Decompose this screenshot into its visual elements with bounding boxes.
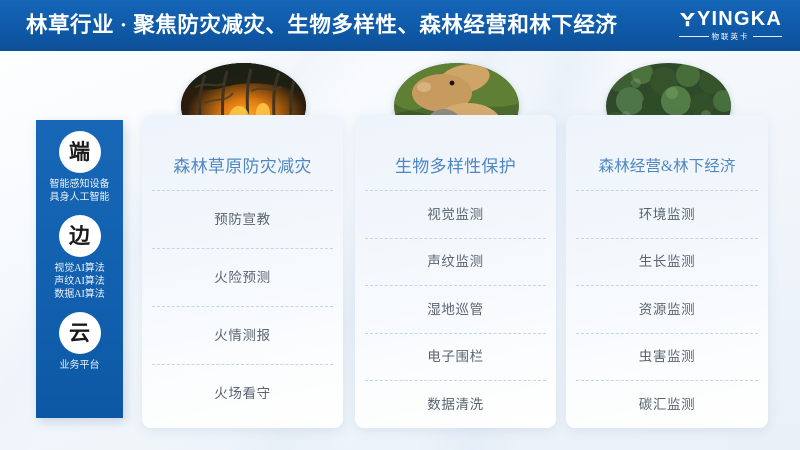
stack-node-cloud: 云 业务平台 <box>36 312 123 372</box>
stack-caption-edge: 视觉AI算法 声纹AI算法 数据AI算法 <box>54 262 105 301</box>
card-item-list: 环境监测 生长监测 资源监测 虫害监测 碳汇监测 <box>576 190 758 428</box>
yingka-y-mark-icon <box>679 11 696 28</box>
card-title: 森林经营&林下经济 <box>576 156 758 178</box>
page-title: 林草行业 · 聚焦防灾减灾、生物多样性、森林经营和林下经济 <box>26 15 617 37</box>
card-item[interactable]: 环境监测 <box>576 190 758 238</box>
logo-wordmark: YINGKA <box>679 9 782 29</box>
stack-symbol-edge: 边 <box>59 215 101 257</box>
logo-subtitle-text: 物联英卡 <box>709 31 753 42</box>
card-item[interactable]: 资源监测 <box>576 285 758 333</box>
slide-canvas: 林草行业 · 聚焦防灾减灾、生物多样性、森林经营和林下经济 YINGKA 物联英… <box>0 0 800 450</box>
stack-node-edge: 边 视觉AI算法 声纹AI算法 数据AI算法 <box>36 215 123 301</box>
stack-symbol-cloud: 云 <box>59 312 101 354</box>
card-item[interactable]: 火险预测 <box>152 248 333 306</box>
stack-caption-device: 智能感知设备 具身人工智能 <box>50 178 110 204</box>
card-forest-management[interactable]: 森林经营&林下经济 环境监测 生长监测 资源监测 虫害监测 碳汇监测 <box>566 115 768 428</box>
architecture-stack-panel: 端 智能感知设备 具身人工智能 边 视觉AI算法 声纹AI算法 数据AI算法 云… <box>36 120 123 418</box>
card-item[interactable]: 预防宣教 <box>152 190 333 248</box>
card-disaster-prevention[interactable]: 森林草原防灾减灾 预防宣教 火险预测 火情测报 火场看守 <box>142 115 343 428</box>
logo-name-text: YINGKA <box>697 9 782 29</box>
card-item[interactable]: 电子围栏 <box>365 333 546 381</box>
card-item[interactable]: 视觉监测 <box>365 190 546 238</box>
logo-subtitle-row: 物联英卡 <box>679 31 782 42</box>
logo-rule-right <box>753 36 783 37</box>
card-title: 生物多样性保护 <box>365 156 546 178</box>
card-item-list: 视觉监测 声纹监测 湿地巡管 电子围栏 数据清洗 <box>365 190 546 428</box>
slide-header: 林草行业 · 聚焦防灾减灾、生物多样性、森林经营和林下经济 YINGKA 物联英… <box>0 0 800 51</box>
brand-logo: YINGKA 物联英卡 <box>679 9 786 42</box>
card-item[interactable]: 湿地巡管 <box>365 285 546 333</box>
card-item-list: 预防宣教 火险预测 火情测报 火场看守 <box>152 190 333 428</box>
card-item[interactable]: 声纹监测 <box>365 238 546 286</box>
card-item[interactable]: 碳汇监测 <box>576 380 758 428</box>
card-item[interactable]: 数据清洗 <box>365 380 546 428</box>
stack-node-device: 端 智能感知设备 具身人工智能 <box>36 131 123 204</box>
card-item[interactable]: 火情测报 <box>152 306 333 364</box>
stack-symbol-device: 端 <box>59 131 101 173</box>
card-item[interactable]: 生长监测 <box>576 238 758 286</box>
card-title: 森林草原防灾减灾 <box>152 156 333 178</box>
card-item[interactable]: 火场看守 <box>152 364 333 422</box>
logo-rule-left <box>679 36 709 37</box>
stack-caption-cloud: 业务平台 <box>60 359 100 372</box>
card-biodiversity-protection[interactable]: 生物多样性保护 视觉监测 声纹监测 湿地巡管 电子围栏 数据清洗 <box>355 115 556 428</box>
card-item[interactable]: 虫害监测 <box>576 333 758 381</box>
